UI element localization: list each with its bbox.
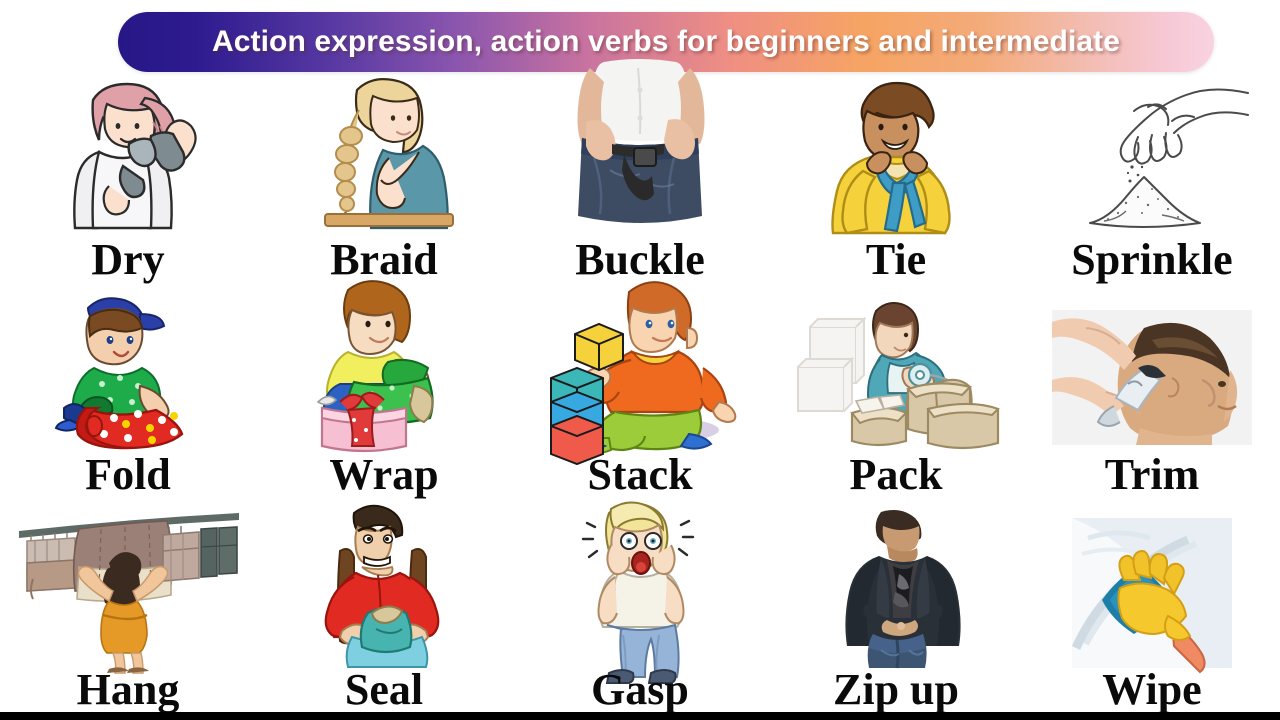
vocabulary-grid: Dry <box>0 72 1280 712</box>
vocab-card-stack[interactable]: Stack <box>512 282 768 497</box>
vocab-label: Pack <box>850 453 943 497</box>
vocab-card-dry[interactable]: Dry <box>0 72 256 282</box>
vocab-card-wrap[interactable]: Wrap <box>256 282 512 497</box>
vocab-card-hang[interactable]: Hang <box>0 497 256 712</box>
hang-laundry-icon <box>13 507 243 662</box>
vocab-label: Wrap <box>329 453 438 497</box>
vocab-card-zip-up[interactable]: Zip up <box>768 497 1024 712</box>
hair-clipper-photo-icon <box>1052 310 1252 445</box>
vocab-label: Sprinkle <box>1071 238 1232 282</box>
stack-blocks-boy-icon <box>533 274 748 449</box>
vocab-label: Stack <box>587 453 692 497</box>
vocab-label: Fold <box>85 453 171 497</box>
vocab-card-seal[interactable]: Seal <box>256 497 512 712</box>
vocab-label: Trim <box>1105 453 1200 497</box>
page-title: Action expression, action verbs for begi… <box>212 25 1120 59</box>
vocab-card-gasp[interactable]: Gasp <box>512 497 768 712</box>
scarf-tie-icon <box>809 77 984 232</box>
vocab-label: Wipe <box>1102 668 1201 712</box>
gasp-shocked-person-icon <box>553 495 728 670</box>
braid-woman-icon <box>289 74 479 234</box>
vocab-label: Dry <box>91 238 164 282</box>
pack-boxes-woman-icon <box>794 297 999 447</box>
vocab-card-sprinkle[interactable]: Sprinkle <box>1024 72 1280 282</box>
vocab-card-fold[interactable]: Fold <box>0 282 256 497</box>
zip-jacket-photo-icon <box>809 508 984 668</box>
vocab-card-pack[interactable]: Pack <box>768 282 1024 497</box>
bottom-bar <box>0 712 1280 720</box>
vocab-card-tie[interactable]: Tie <box>768 72 1024 282</box>
belt-buckle-photo-icon <box>550 62 730 232</box>
vocab-label: Seal <box>345 668 423 712</box>
vocab-card-wipe[interactable]: Wipe <box>1024 497 1280 712</box>
vocab-label: Zip up <box>833 668 959 712</box>
vocab-card-braid[interactable]: Braid <box>256 72 512 282</box>
vocab-label: Hang <box>77 668 180 712</box>
vocab-label: Tie <box>866 238 926 282</box>
wrap-gift-boy-icon <box>292 276 477 451</box>
hairdryer-woman-icon <box>33 82 223 232</box>
fold-blanket-boy-icon <box>28 290 228 445</box>
vocab-card-buckle[interactable]: Buckle <box>512 72 768 282</box>
vocab-card-trim[interactable]: Trim <box>1024 282 1280 497</box>
wipe-glove-cloth-icon <box>1072 518 1232 668</box>
hand-sprinkle-icon <box>1052 81 1252 236</box>
vocab-label: Gasp <box>591 668 689 712</box>
seal-bag-man-icon <box>292 501 477 666</box>
lesson-slide: Action expression, action verbs for begi… <box>0 0 1280 720</box>
